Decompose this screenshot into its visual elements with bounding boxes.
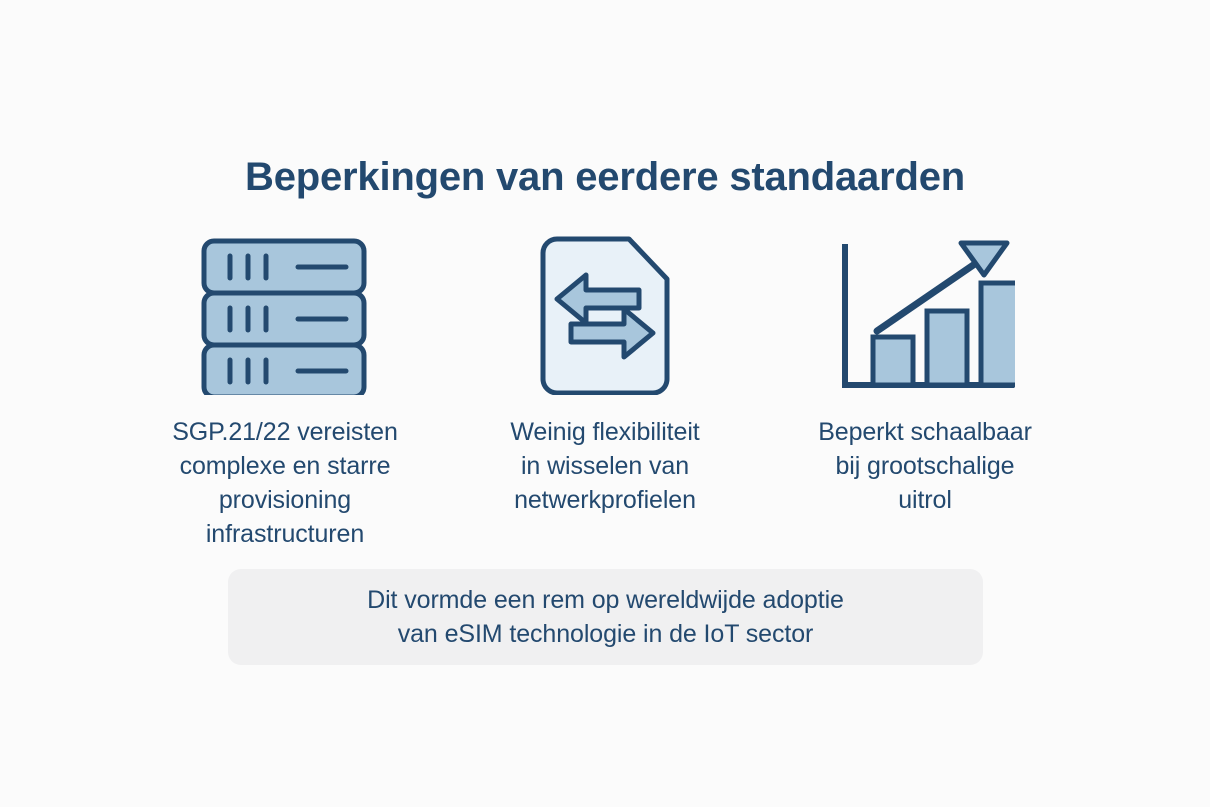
feature-caption-3: Beperkt schaalbaar bij grootschalige uit…	[818, 415, 1032, 517]
caption-line: infrastructuren	[172, 517, 398, 551]
caption-line: uitrol	[818, 483, 1032, 517]
caption-line: bij grootschalige	[818, 449, 1032, 483]
summary-banner-text: Dit vormde een rem op wereldwijde adopti…	[367, 583, 844, 652]
banner-line: van eSIM technologie in de IoT sector	[367, 617, 844, 652]
growth-bar-chart-icon	[835, 232, 1015, 397]
feature-caption-1: SGP.21/22 vereisten complexe en starre p…	[172, 415, 398, 551]
feature-column-2: Weinig flexibiliteit in wisselen van net…	[450, 232, 760, 517]
caption-line: provisioning	[172, 483, 398, 517]
caption-line: Weinig flexibiliteit	[510, 415, 699, 449]
server-stack-icon	[200, 232, 370, 397]
page-title: Beperkingen van eerdere standaarden	[0, 155, 1210, 199]
caption-line: Beperkt schaalbaar	[818, 415, 1032, 449]
feature-columns: SGP.21/22 vereisten complexe en starre p…	[130, 232, 1080, 551]
feature-caption-2: Weinig flexibiliteit in wisselen van net…	[510, 415, 699, 517]
caption-line: SGP.21/22 vereisten	[172, 415, 398, 449]
caption-line: netwerkprofielen	[510, 483, 699, 517]
banner-line: Dit vormde een rem op wereldwijde adopti…	[367, 583, 844, 618]
summary-banner: Dit vormde een rem op wereldwijde adopti…	[228, 569, 983, 665]
feature-column-1: SGP.21/22 vereisten complexe en starre p…	[130, 232, 440, 551]
caption-line: in wisselen van	[510, 449, 699, 483]
caption-line: complexe en starre	[172, 449, 398, 483]
feature-column-3: Beperkt schaalbaar bij grootschalige uit…	[770, 232, 1080, 517]
slide-canvas: Beperkingen van eerdere standaarden	[0, 0, 1210, 807]
sim-card-swap-icon	[539, 232, 671, 397]
